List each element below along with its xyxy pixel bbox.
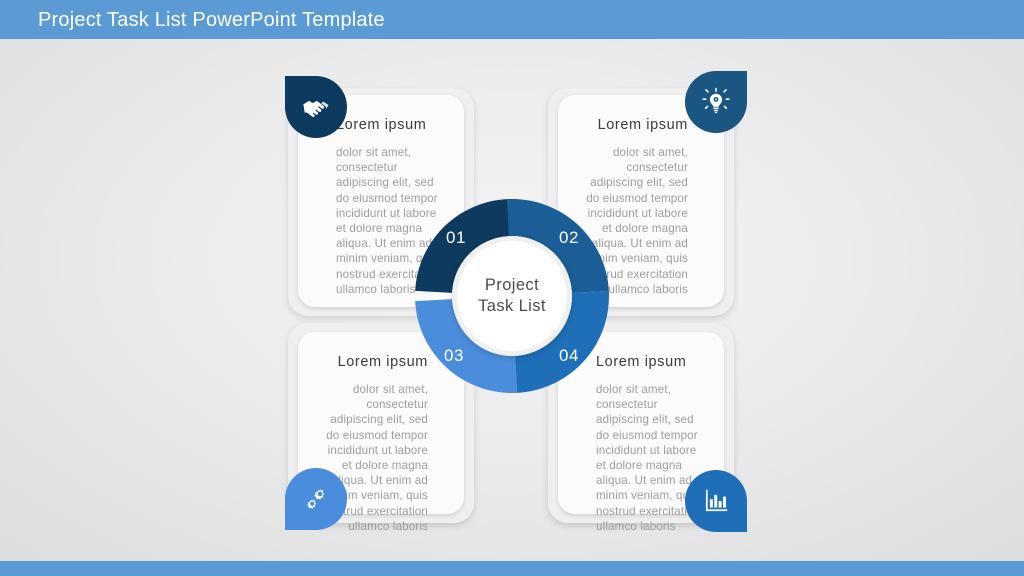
card-01-title: Lorem ipsum — [336, 117, 446, 133]
slide-canvas: Project Task List PowerPoint Template Lo… — [0, 0, 1024, 576]
footer-bar — [0, 561, 1024, 576]
lightbulb-gear-icon — [701, 87, 731, 117]
donut-hub-label: Project Task List — [478, 275, 546, 317]
donut-number-01: 01 — [446, 228, 466, 248]
gears-icon — [301, 484, 331, 514]
page-title: Project Task List PowerPoint Template — [38, 9, 385, 32]
card-03-title: Lorem ipsum — [316, 354, 428, 370]
card-01-icon-badge[interactable] — [285, 76, 347, 138]
donut-number-04: 04 — [559, 346, 579, 366]
donut-hub[interactable]: Project Task List — [452, 236, 572, 356]
card-02-title: Lorem ipsum — [576, 117, 688, 133]
bar-chart-icon — [702, 487, 730, 515]
card-03-icon-badge[interactable] — [285, 468, 347, 530]
donut-number-02: 02 — [559, 228, 579, 248]
card-02-icon-badge[interactable] — [685, 71, 747, 133]
donut-number-03: 03 — [444, 346, 464, 366]
card-04-icon-badge[interactable] — [685, 470, 747, 532]
header-bar: Project Task List PowerPoint Template — [0, 0, 1024, 39]
card-04-title: Lorem ipsum — [596, 354, 706, 370]
handshake-icon — [301, 92, 331, 122]
